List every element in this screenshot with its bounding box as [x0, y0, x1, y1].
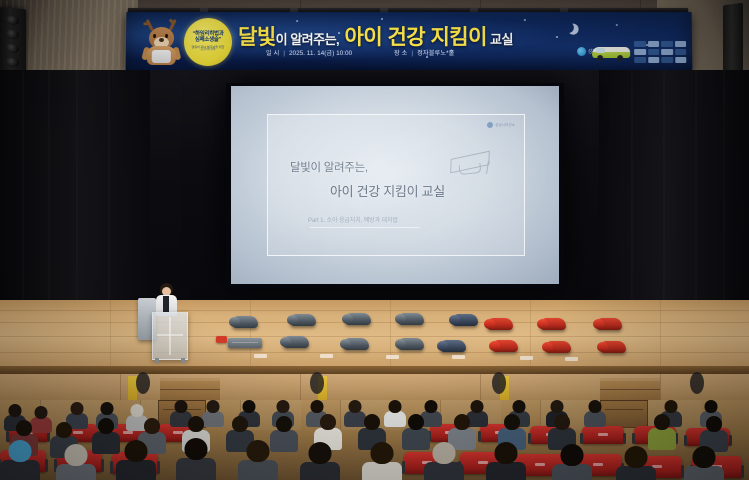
- banner-topic-badge: “하임리히법과 심폐소생술” 영유아 자녀 부모님을 위한 응급처치 교육: [184, 18, 232, 66]
- auditorium-photo: “하임리히법과 심폐소생술” 영유아 자녀 부모님을 위한 응급처치 교육 달빛…: [0, 0, 749, 480]
- city-skyline-art: [634, 41, 686, 63]
- audience-member: [486, 442, 526, 480]
- auditorium-seat: [582, 426, 624, 444]
- event-banner: “하임리히법과 심폐소생술” 영유아 자녀 부모님을 위한 응급처치 교육 달빛…: [126, 12, 693, 70]
- auditorium-door: [600, 400, 648, 428]
- audience-member: [300, 442, 340, 480]
- stage-floor: [0, 300, 749, 372]
- cpr-mannequin: [290, 314, 316, 326]
- audience-member: [424, 442, 464, 480]
- acrylic-podium: [152, 312, 188, 360]
- stage-corner-guard: [690, 372, 704, 394]
- stage-corner-guard: [492, 372, 506, 394]
- cpr-mannequin: [540, 318, 566, 330]
- floor-marker: [452, 355, 465, 359]
- presenter-inner-top: [163, 296, 169, 312]
- place-value: 정자블루노*홀: [417, 50, 454, 57]
- audience-member: [56, 444, 96, 480]
- badge-line-4: 응급처치 교육: [200, 49, 215, 52]
- cpr-mannequin: [492, 340, 518, 352]
- mannequin-carry-case: [228, 338, 262, 348]
- date-value: 2025. 11. 14(금) 10:00: [289, 50, 352, 57]
- headline-highlight-2: 아이 건강 지킴이: [344, 26, 486, 49]
- floor-marker: [386, 355, 399, 359]
- place-label: 장 소: [394, 50, 407, 57]
- slide-subtitle-underline: [310, 227, 420, 228]
- slide-title-line-1: 달빛이 알려주는,: [290, 159, 368, 175]
- cpr-mannequin: [440, 340, 466, 352]
- projection-screen: 성남시보건소 달빛이 알려주는, 아이 건강 지킴이 교실 Part 1. 소아…: [231, 86, 559, 284]
- audience-member: [584, 400, 606, 426]
- org-logo-mark-icon: [577, 47, 586, 56]
- stage-edge: [0, 366, 749, 374]
- cpr-mannequin: [343, 338, 369, 350]
- stage-curtain-right: [599, 70, 749, 320]
- separator-2: |: [411, 50, 413, 57]
- slide-logo: 성남시보건소: [487, 122, 515, 128]
- cpr-mannequin: [600, 341, 626, 353]
- stage-corner-guard: [310, 372, 324, 394]
- stage-curtain-left: [0, 70, 150, 320]
- night-clinic-van-icon: [592, 46, 630, 61]
- cpr-mannequin: [596, 318, 622, 330]
- slide-logo-text: 성남시보건소: [495, 123, 515, 128]
- headline-text-1: 이 알려주는,: [276, 32, 340, 47]
- cpr-mannequin: [232, 316, 258, 328]
- presentation-slide: 성남시보건소 달빛이 알려주는, 아이 건강 지킴이 교실 Part 1. 소아…: [267, 114, 525, 256]
- slide-title-line-2: 아이 건강 지킴이 교실: [330, 181, 445, 200]
- audience-member: [552, 444, 592, 480]
- graduation-cap-icon: [450, 151, 490, 179]
- cpr-mannequin: [398, 338, 424, 350]
- cpr-mannequin: [345, 313, 371, 325]
- stage-corner-guard: [136, 372, 150, 394]
- badge-line-2: 심폐소생술”: [195, 38, 221, 44]
- headline-text-2: 교실: [487, 32, 513, 47]
- audience-member: [684, 446, 724, 480]
- line-array-speaker-right: [723, 3, 743, 79]
- audience-member: [116, 440, 156, 480]
- audience-member: [176, 438, 216, 480]
- floor-marker: [565, 357, 578, 361]
- floor-marker: [320, 354, 333, 358]
- audience-member: [0, 440, 40, 480]
- floor-marker: [520, 356, 533, 360]
- date-label: 일 시: [266, 50, 279, 57]
- audience-member: [238, 440, 278, 480]
- audience-member: [362, 442, 402, 480]
- cpr-mannequin: [452, 314, 478, 326]
- slide-logo-mark-icon: [487, 122, 493, 128]
- separator-1: |: [283, 50, 285, 57]
- cpr-mannequin: [487, 318, 513, 330]
- audience-member: [700, 416, 728, 450]
- audience-member: [548, 414, 576, 448]
- slide-subtitle: Part 1. 소아 응급처치, 예방과 대처법: [308, 215, 398, 224]
- cpr-mannequin: [398, 313, 424, 325]
- deer-mascot-icon: [140, 19, 185, 65]
- red-equipment-bag: [216, 336, 227, 343]
- floor-marker: [254, 354, 267, 358]
- audience-member: [648, 414, 676, 448]
- cpr-mannequin: [545, 341, 571, 353]
- cpr-mannequin: [283, 336, 309, 348]
- audience-member: [616, 446, 656, 480]
- headline-highlight-1: 달빛: [238, 26, 276, 49]
